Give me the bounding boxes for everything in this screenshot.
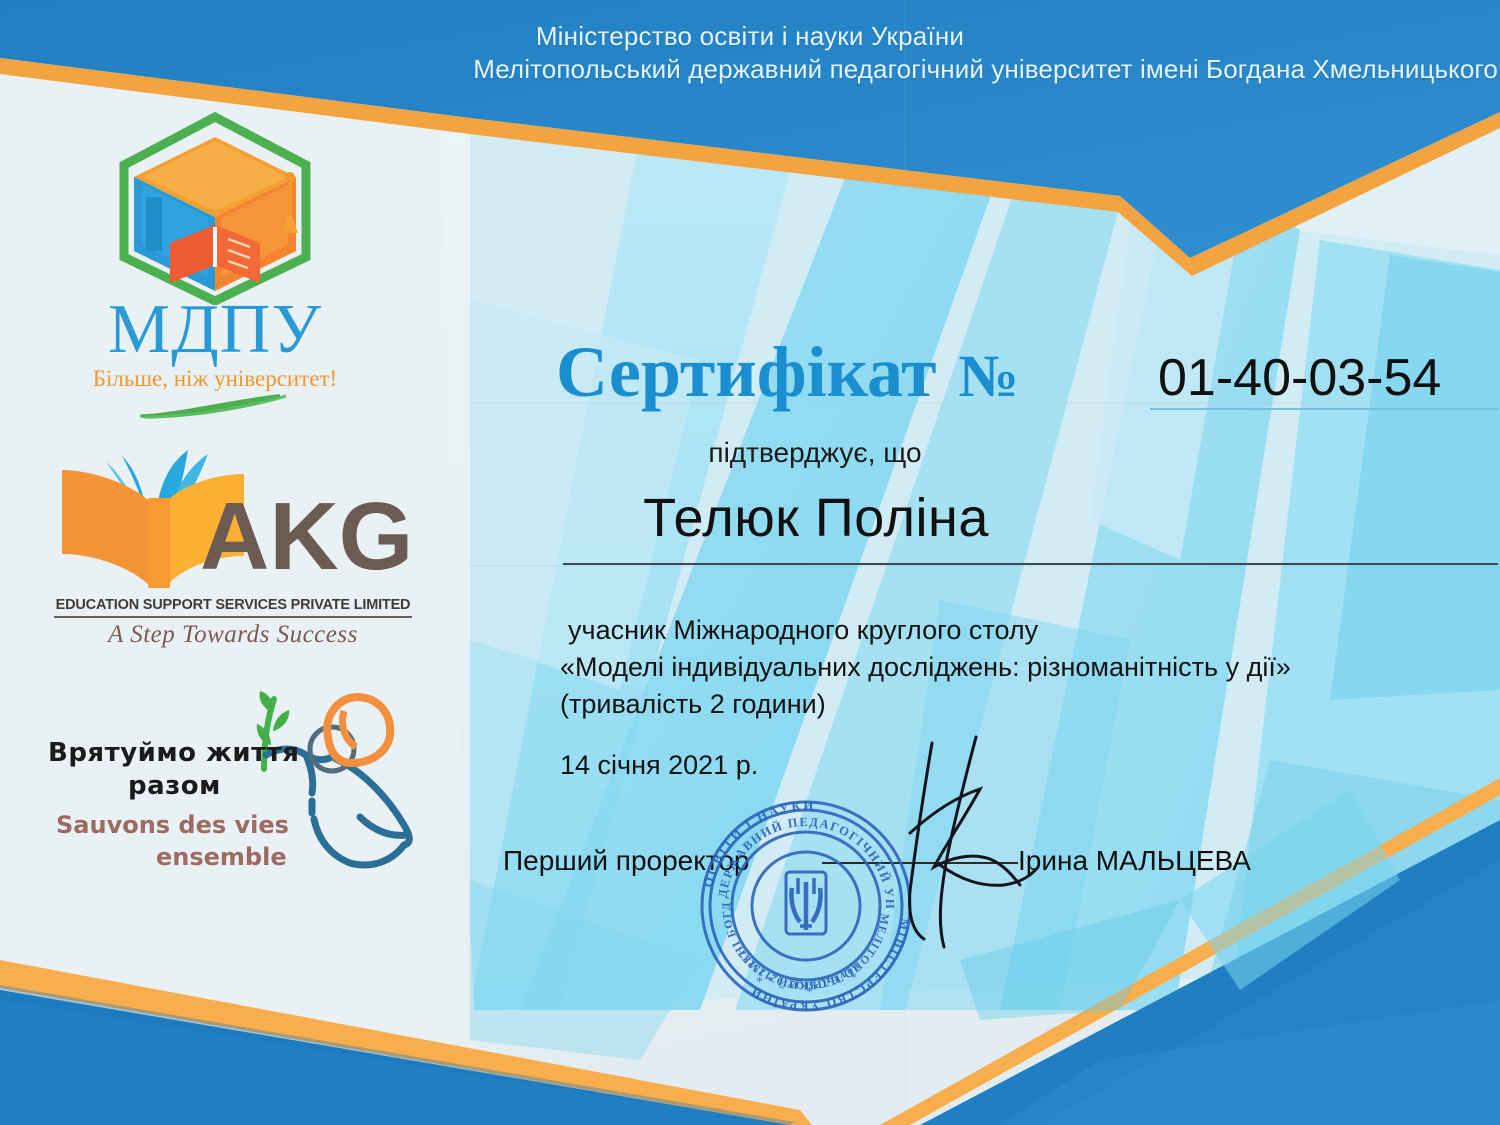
akg-slogan: A Step Towards Success	[48, 621, 418, 649]
description-line-3: (тривалість 2 години)	[560, 686, 1500, 723]
handwritten-signature	[880, 735, 1070, 965]
certificate-document: Міністерство освіти і науки України Мелі…	[0, 0, 1500, 1125]
akg-divider	[54, 616, 412, 618]
certificate-title-row: Сертифікат №	[556, 336, 1019, 408]
page-title: Сертифікат	[556, 336, 937, 408]
save-lives-ua-line2: разом	[128, 771, 221, 801]
save-lives-fr-line1: Sauvons des vies	[56, 811, 289, 839]
issue-date: 14 січня 2021 р.	[560, 750, 758, 781]
green-underline-swoosh-icon	[130, 390, 300, 420]
save-lives-fr-line2: ensemble	[156, 843, 287, 871]
mdpu-logo: МДПУ Більше, ніж університет!	[0, 105, 430, 420]
event-description: учасник Міжнародного круглого столу «Мод…	[560, 612, 1500, 723]
svg-text:*: *	[806, 985, 813, 1000]
svg-text:AKG: AKG	[200, 483, 413, 590]
number-symbol: №	[959, 346, 1019, 406]
logo-column: МДПУ Більше, ніж університет!	[0, 105, 430, 871]
description-line-1: учасник Міжнародного круглого столу	[560, 612, 1500, 649]
save-lives-logo: Врятуймо життя разом Sauvons des vies en…	[0, 681, 430, 871]
certificate-number-underline	[1150, 408, 1498, 410]
mdpu-cube-graduation-cap-icon	[90, 105, 340, 305]
certificate-number: 01-40-03-54	[1158, 348, 1441, 408]
svg-text:*: *	[850, 971, 857, 986]
akg-subtitle: EDUCATION SUPPORT SERVICES PRIVATE LIMIT…	[48, 597, 418, 613]
svg-text:*: *	[756, 975, 763, 990]
recipient-underline	[563, 563, 1498, 565]
save-lives-ua-line1: Врятуймо життя	[48, 738, 299, 768]
description-line-2: «Моделі індивідуальних досліджень: різно…	[560, 649, 1500, 686]
mdpu-acronym: МДПУ	[0, 297, 430, 364]
akg-open-book-icon: AKG	[48, 436, 418, 601]
akg-logo: AKG EDUCATION SUPPORT SERVICES PRIVATE L…	[48, 436, 418, 649]
mdpu-tagline: Більше, ніж університет!	[0, 366, 430, 392]
